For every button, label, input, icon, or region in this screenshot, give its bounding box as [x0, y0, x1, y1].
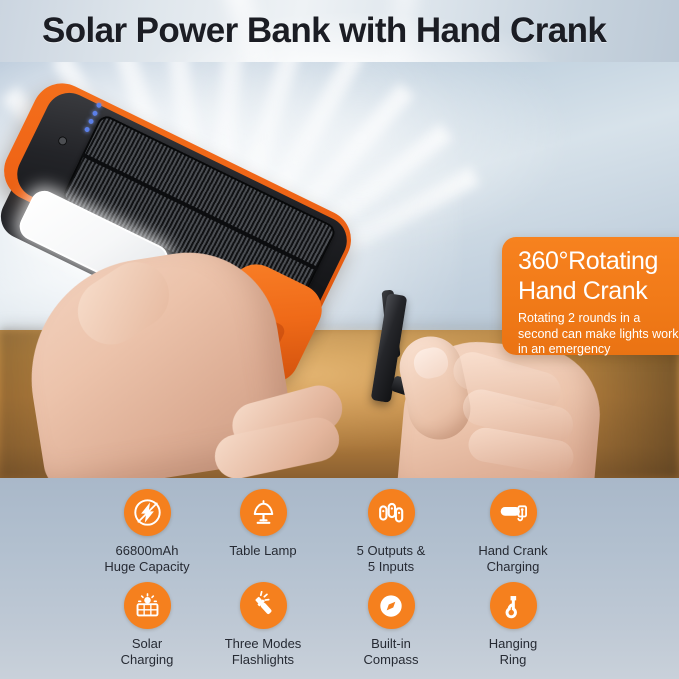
feature-label: 5 Outputs & 5 Inputs: [357, 543, 426, 575]
feature-row-1: 66800mAh Huge Capacity Table Lamp: [0, 489, 679, 583]
feature-label: Three Modes Flashlights: [225, 636, 302, 668]
feature-row-2: Solar Charging Three Modes Flashlights: [0, 582, 679, 676]
title-band: Solar Power Bank with Hand Crank: [0, 0, 679, 62]
hand-crank-icon: [490, 489, 537, 536]
callout-heading-line1: 360°Rotating: [518, 246, 679, 276]
page-title: Solar Power Bank with Hand Crank: [42, 9, 606, 53]
compass-icon: [368, 582, 415, 629]
feature-capacity: 66800mAh Huge Capacity: [86, 489, 208, 583]
flashlight-icon: [240, 582, 287, 629]
carabiner-ring-icon: [490, 582, 537, 629]
product-photo: 360°Rotating Hand Crank Rotating 2 round…: [0, 62, 679, 478]
feature-hanging-ring: Hanging Ring: [452, 582, 574, 676]
feature-hand-crank: Hand Crank Charging: [452, 489, 574, 583]
feature-label: Hanging Ring: [489, 636, 537, 668]
product-infographic: Solar Power Bank with Hand Crank: [0, 0, 679, 679]
feature-compass: Built-in Compass: [330, 582, 452, 676]
solar-panel-icon: [124, 582, 171, 629]
feature-label: Built-in Compass: [364, 636, 419, 668]
callout-body-text: Rotating 2 rounds in a second can make l…: [518, 311, 679, 358]
lightning-bolt-icon: [124, 489, 171, 536]
feature-panel: 66800mAh Huge Capacity Table Lamp: [0, 478, 679, 679]
feature-callout: 360°Rotating Hand Crank Rotating 2 round…: [502, 237, 679, 355]
feature-label: Table Lamp: [229, 543, 296, 559]
feature-label: Hand Crank Charging: [478, 543, 547, 575]
ports-icon: [368, 489, 415, 536]
feature-label: Solar Charging: [121, 636, 174, 668]
feature-ports: 5 Outputs & 5 Inputs: [330, 489, 452, 583]
callout-heading-line2: Hand Crank: [518, 276, 679, 306]
table-lamp-icon: [240, 489, 287, 536]
feature-flashlights: Three Modes Flashlights: [202, 582, 324, 676]
sensor-dot: [57, 135, 69, 147]
feature-label: 66800mAh Huge Capacity: [104, 543, 189, 575]
feature-table-lamp: Table Lamp: [202, 489, 324, 583]
feature-solar-charging: Solar Charging: [86, 582, 208, 676]
